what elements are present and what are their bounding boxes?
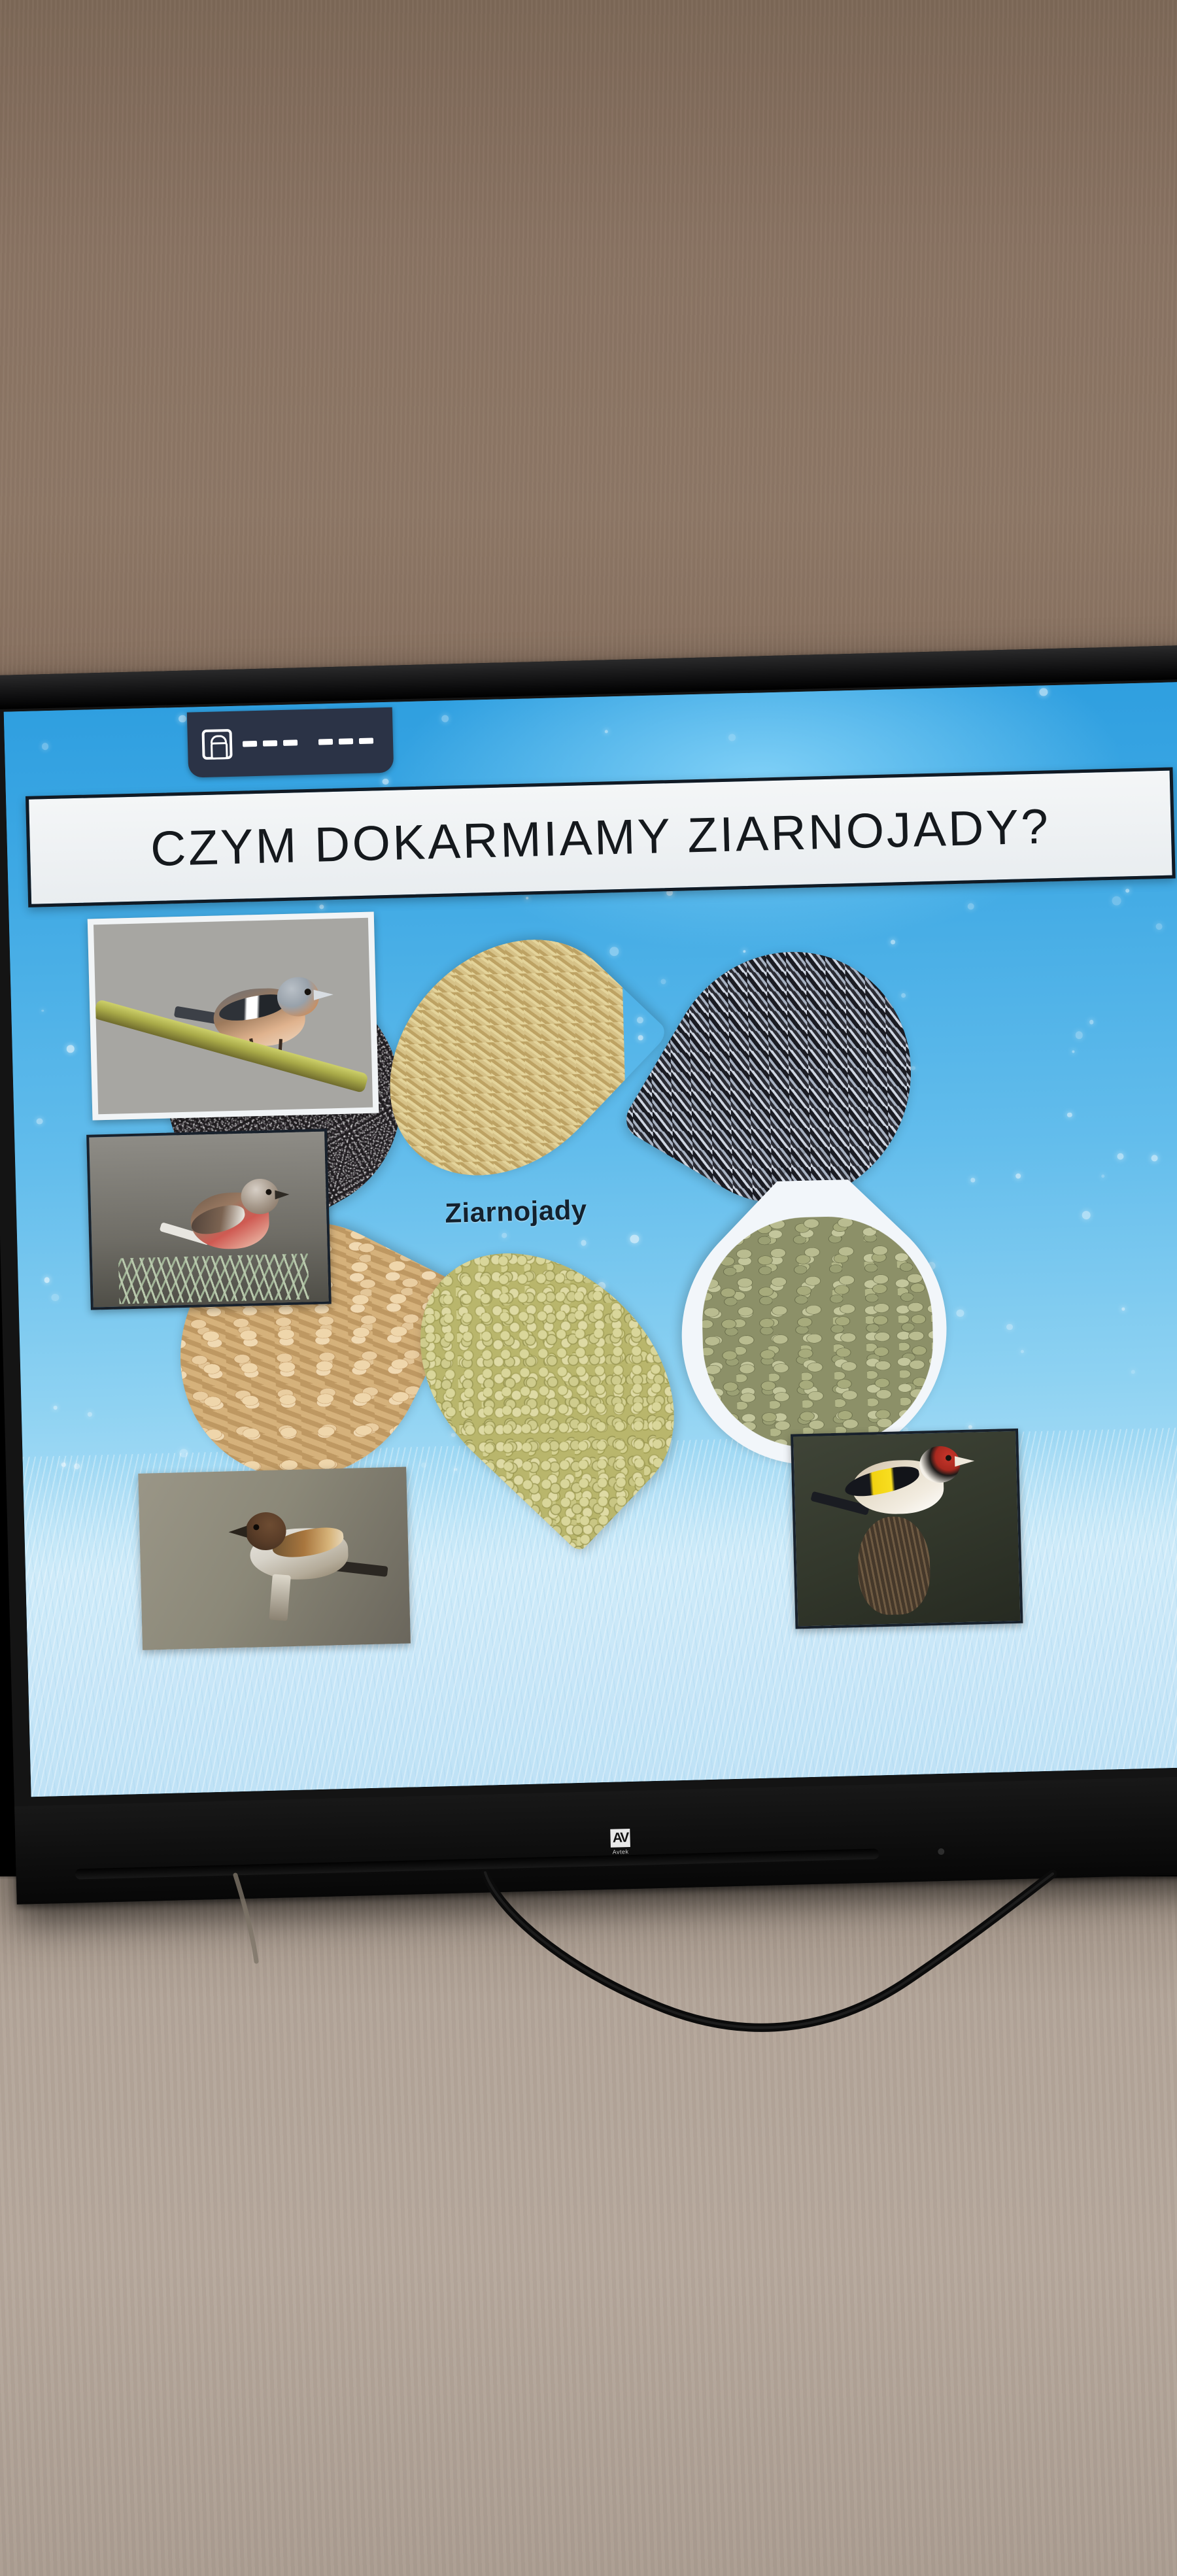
tv-logo-text: Avtek xyxy=(613,1848,629,1856)
teasel-head xyxy=(857,1516,931,1616)
snowflake xyxy=(1040,688,1048,696)
snowflake xyxy=(728,734,736,741)
petal-oats xyxy=(343,893,670,1222)
room-scene: CZYM DOKARMIAMY ZIARNOJADY? xyxy=(0,0,1177,2576)
linnet-head xyxy=(241,1178,279,1214)
oat-grain-texture xyxy=(385,903,628,1212)
snowflake xyxy=(42,743,49,750)
chaffinch-beak xyxy=(314,989,333,1000)
tv-ir-sensor xyxy=(938,1848,944,1855)
wall-upper xyxy=(0,0,1177,732)
pine-needles xyxy=(118,1253,309,1304)
goldfinch-beak xyxy=(955,1456,974,1467)
snowflake xyxy=(441,715,449,722)
photo-sparrow xyxy=(138,1467,411,1650)
photo-goldfinch xyxy=(791,1429,1023,1629)
display-screen[interactable]: CZYM DOKARMIAMY ZIARNOJADY? xyxy=(4,682,1177,1797)
millet-texture xyxy=(384,1203,710,1553)
cast-status-overlay[interactable] xyxy=(187,707,394,778)
slide-title: CZYM DOKARMIAMY ZIARNOJADY? xyxy=(150,798,1051,877)
snowflake xyxy=(605,730,608,734)
sparrow-perch xyxy=(269,1574,290,1621)
overlay-separator-dashes xyxy=(243,737,373,747)
bird-sparrow xyxy=(230,1499,390,1601)
sparrow-beak xyxy=(228,1526,247,1538)
center-label: Ziarnojady xyxy=(445,1194,588,1229)
snowflake xyxy=(179,715,186,722)
chaffinch-head xyxy=(277,977,319,1017)
screen-cast-icon xyxy=(201,729,232,760)
tv-brand-logo: AV Avtek xyxy=(610,1829,630,1856)
pumpkin-seed-pile xyxy=(699,1214,935,1450)
wall-display: CZYM DOKARMIAMY ZIARNOJADY? xyxy=(0,645,1177,1905)
slide-collage: Ziarnojady xyxy=(9,878,1177,1797)
linnet-beak xyxy=(275,1190,289,1200)
photo-linnet xyxy=(86,1128,332,1310)
bird-linnet xyxy=(167,1173,294,1261)
wall-lower xyxy=(0,1876,1177,2576)
photo-chaffinch xyxy=(88,912,379,1121)
tv-speaker-groove xyxy=(75,1848,879,1879)
tv-logo-mark: AV xyxy=(610,1829,630,1848)
snowflake xyxy=(382,778,388,785)
